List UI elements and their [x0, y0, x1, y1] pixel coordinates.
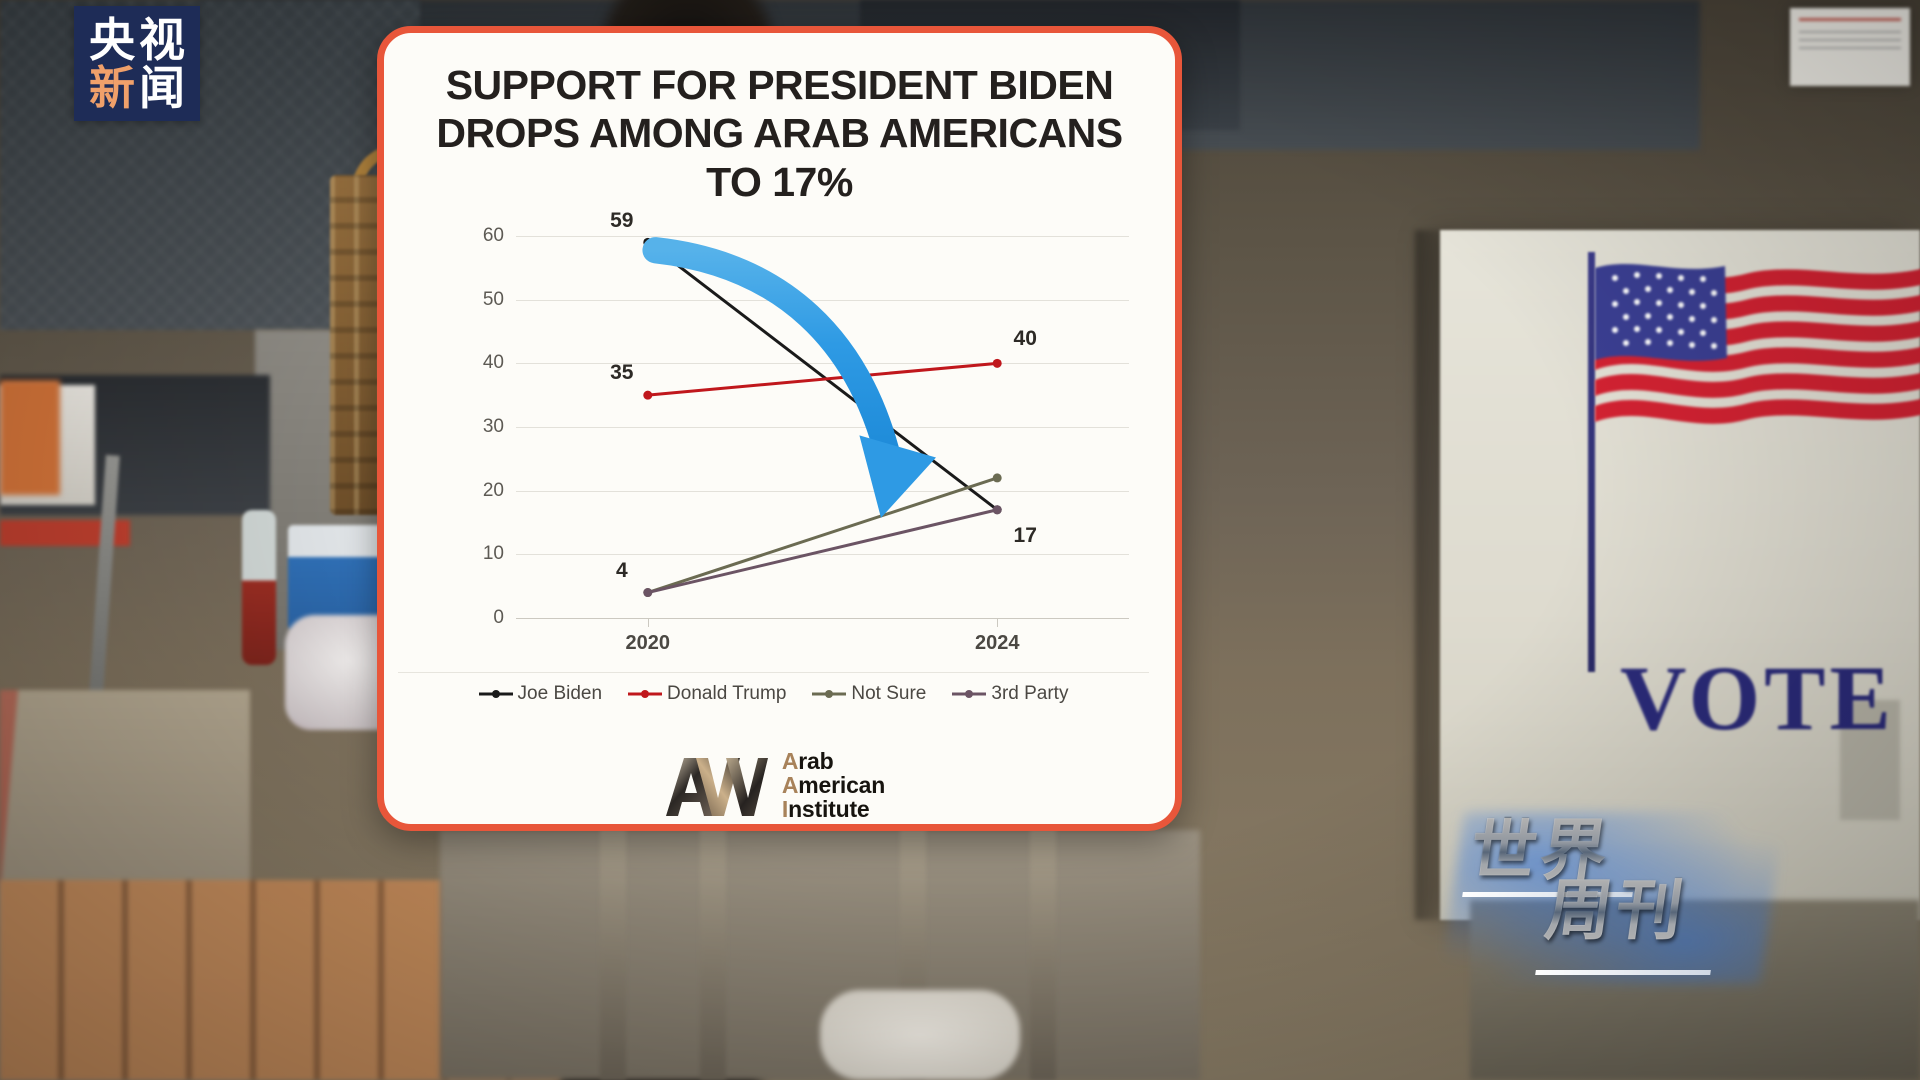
y-axis-tick-label: 60	[483, 225, 504, 247]
gridline	[516, 491, 1129, 492]
program-logo-line1: 世 界	[1464, 818, 1773, 884]
legend-swatch-icon	[952, 688, 986, 700]
cctv-char-xin: 新	[89, 65, 135, 111]
x-axis-tick-mark	[997, 618, 998, 627]
cctv-news-logo: 央 视 新 闻	[74, 6, 200, 121]
aai-word-line: American	[782, 774, 885, 798]
data-point	[993, 474, 1002, 483]
data-value-label: 40	[1014, 327, 1037, 351]
series-donald-trump	[643, 359, 1001, 400]
legend-item-donald-trump[interactable]: Donald Trump	[628, 683, 786, 705]
gridline	[516, 427, 1129, 428]
legend-swatch-icon	[628, 688, 662, 700]
cctv-logo-line1: 央 视	[89, 17, 185, 63]
data-point	[993, 359, 1002, 368]
y-axis-tick-label: 0	[493, 607, 504, 629]
program-char-zhou: 周	[1540, 878, 1619, 944]
y-axis-tick-label: 20	[483, 480, 504, 502]
series-joe-biden	[643, 238, 1001, 514]
series-3rd-party	[643, 505, 1001, 597]
program-logo-bar	[1535, 970, 1711, 975]
x-axis-tick-label: 2024	[975, 632, 1020, 655]
legend-item-not-sure[interactable]: Not Sure	[812, 683, 926, 705]
aai-monogram-icon	[662, 754, 768, 818]
legend-label: Donald Trump	[667, 683, 786, 705]
plot-region: 0102030405060591735404	[516, 236, 1129, 618]
program-logo-line2: 周 刊	[1540, 878, 1765, 944]
cctv-char-shi: 视	[139, 17, 185, 63]
x-axis-tick-mark	[648, 618, 649, 627]
x-axis: 20202024	[516, 618, 1129, 662]
data-value-label: 59	[610, 209, 633, 233]
chart-area: 0102030405060591735404 20202024 Joe Bide…	[398, 220, 1149, 824]
cctv-char-yang: 央	[89, 17, 135, 63]
data-point	[993, 505, 1002, 514]
data-point	[643, 588, 652, 597]
y-axis-tick-label: 50	[483, 289, 504, 311]
legend-item-joe-biden[interactable]: Joe Biden	[479, 683, 603, 705]
series-not-sure	[643, 474, 1001, 598]
program-char-kan: 刊	[1610, 878, 1689, 944]
series-lines	[516, 236, 816, 386]
data-value-label: 17	[1014, 524, 1037, 548]
legend-swatch-icon	[812, 688, 846, 700]
world-weekly-logo: 世 界 周 刊	[1451, 818, 1773, 978]
legend-item-3rd-party[interactable]: 3rd Party	[952, 683, 1068, 705]
y-axis-tick-label: 10	[483, 543, 504, 565]
chart-title: SUPPORT FOR PRESIDENT BIDEN DROPS AMONG …	[384, 33, 1175, 206]
chart-legend: Joe BidenDonald TrumpNot Sure3rd Party	[398, 672, 1149, 705]
data-value-label: 35	[610, 361, 633, 385]
aai-wordmark: ArabAmericanInstitute	[782, 750, 885, 822]
legend-label: Not Sure	[851, 683, 926, 705]
cctv-char-wen: 闻	[139, 65, 185, 111]
aai-word-line: Institute	[782, 798, 885, 822]
y-axis-tick-label: 40	[483, 352, 504, 374]
aai-source-logo: ArabAmericanInstitute	[398, 750, 1149, 822]
gridline	[516, 554, 1129, 555]
legend-swatch-icon	[479, 688, 513, 700]
cctv-logo-line2: 新 闻	[89, 65, 185, 111]
y-axis-tick-label: 30	[483, 416, 504, 438]
aai-word-line: Arab	[782, 750, 885, 774]
program-char-shi: 世	[1464, 818, 1543, 884]
x-axis-tick-label: 2020	[626, 632, 671, 655]
data-point	[643, 391, 652, 400]
data-value-label: 4	[616, 559, 628, 583]
data-point	[643, 238, 652, 247]
legend-label: 3rd Party	[991, 683, 1068, 705]
legend-label: Joe Biden	[518, 683, 603, 705]
chart-card: SUPPORT FOR PRESIDENT BIDEN DROPS AMONG …	[377, 26, 1182, 831]
